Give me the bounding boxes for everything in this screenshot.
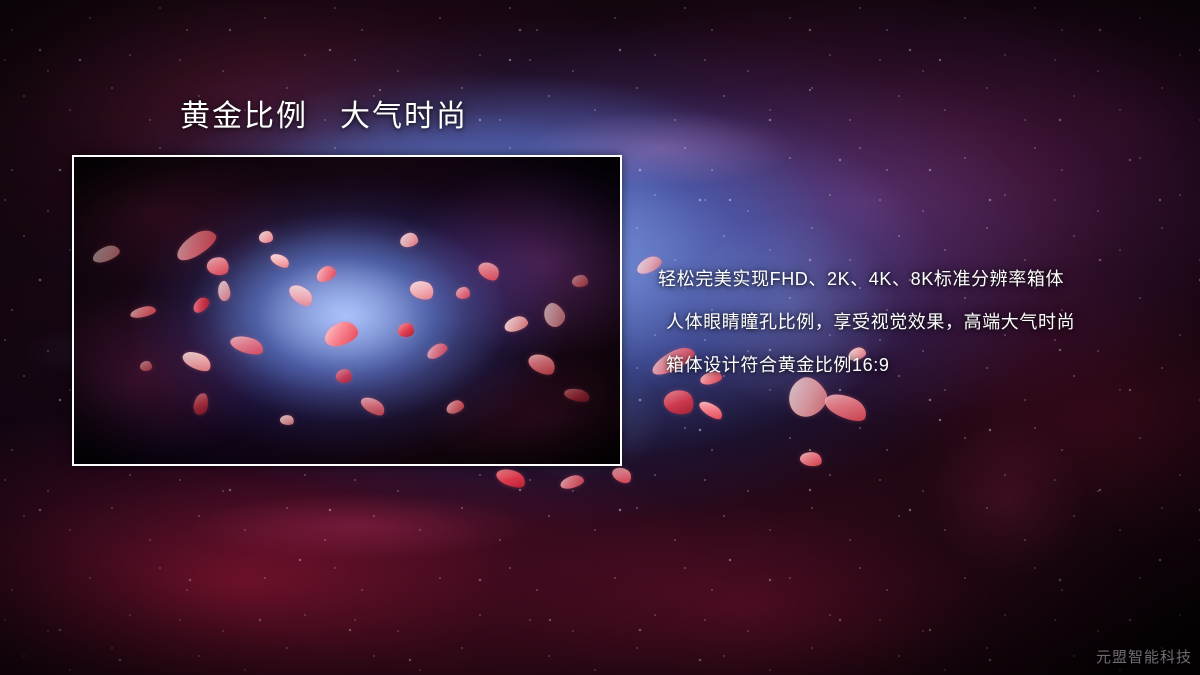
petal [610, 464, 634, 486]
body-line-1: 轻松完美实现FHD、2K、4K、8K标准分辨率箱体 [658, 258, 1168, 301]
petal [821, 388, 870, 426]
body-text-block: 轻松完美实现FHD、2K、4K、8K标准分辨率箱体 人体眼睛瞳孔比例，享受视觉效… [658, 258, 1168, 387]
body-line-3: 箱体设计符合黄金比例16:9 [658, 344, 1168, 387]
page-title: 黄金比例 大气时尚 [180, 99, 468, 135]
framed-image [72, 155, 622, 466]
presentation-slide: 黄金比例 大气时尚 轻松完美实现FHD、2K、4K、8K标准分辨率箱体 人体眼睛… [0, 0, 1200, 675]
petal [661, 386, 696, 417]
body-line-2: 人体眼睛瞳孔比例，享受视觉效果，高端大气时尚 [658, 301, 1168, 344]
watermark: 元盟智能科技 [1096, 646, 1192, 667]
petal [494, 465, 528, 491]
petal [697, 398, 725, 422]
petal [559, 473, 585, 490]
petal [799, 450, 823, 468]
galaxy-image [74, 157, 620, 464]
